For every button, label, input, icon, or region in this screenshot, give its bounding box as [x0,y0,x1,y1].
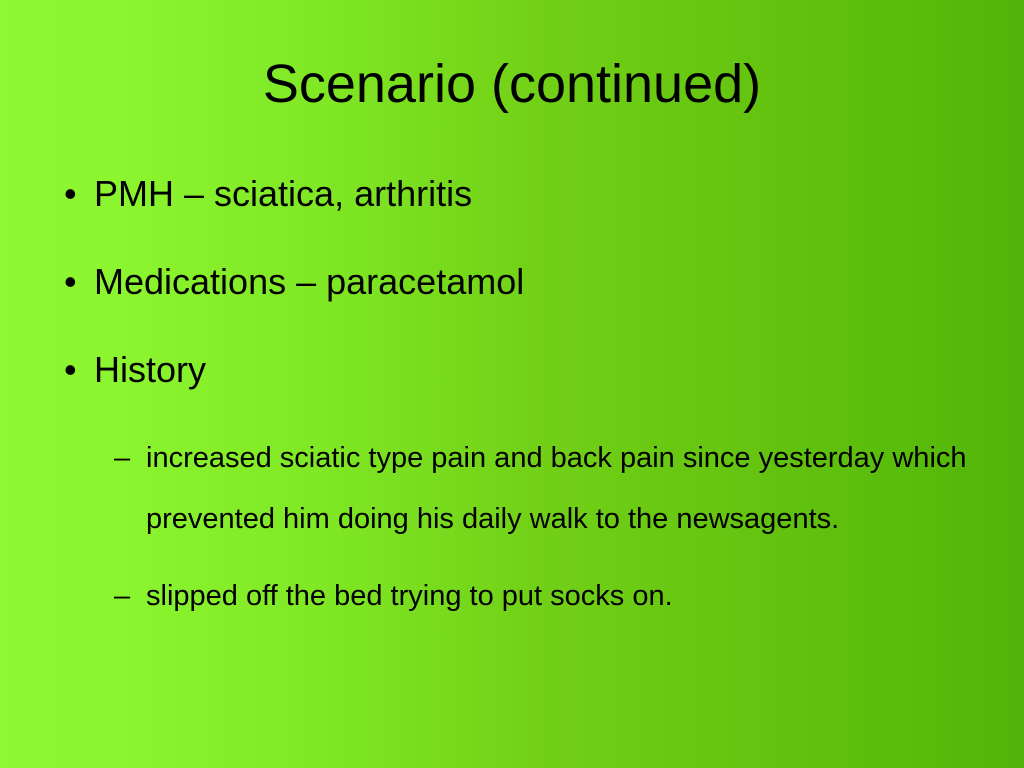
list-item-label: PMH – sciatica, arthritis [94,172,980,216]
sub-list: – increased sciatic type pain and back p… [94,428,980,627]
sub-list-item: – slipped off the bed trying to put sock… [108,566,980,627]
list-item-label: History [94,348,980,392]
sub-list-item-label: slipped off the bed trying to put socks … [146,566,980,627]
bullet-dash-icon: – [114,566,130,627]
list-item: • Medications – paracetamol [50,260,980,304]
sub-list-item: – increased sciatic type pain and back p… [108,428,980,550]
bullet-dot-icon: • [64,172,77,216]
bullet-dot-icon: • [64,348,77,392]
bullet-dot-icon: • [64,260,77,304]
slide-body-content: • PMH – sciatica, arthritis • Medication… [50,172,980,627]
list-item-label: Medications – paracetamol [94,260,980,304]
list-item: • PMH – sciatica, arthritis [50,172,980,216]
bullet-dash-icon: – [114,428,130,489]
presentation-slide: Scenario (continued) • PMH – sciatica, a… [0,0,1024,768]
slide-title-block: Scenario (continued) [64,52,960,116]
page-title: Scenario (continued) [64,52,960,116]
list-item: • History – increased sciatic type pain … [50,348,980,627]
sub-list-item-label: increased sciatic type pain and back pai… [146,428,980,550]
